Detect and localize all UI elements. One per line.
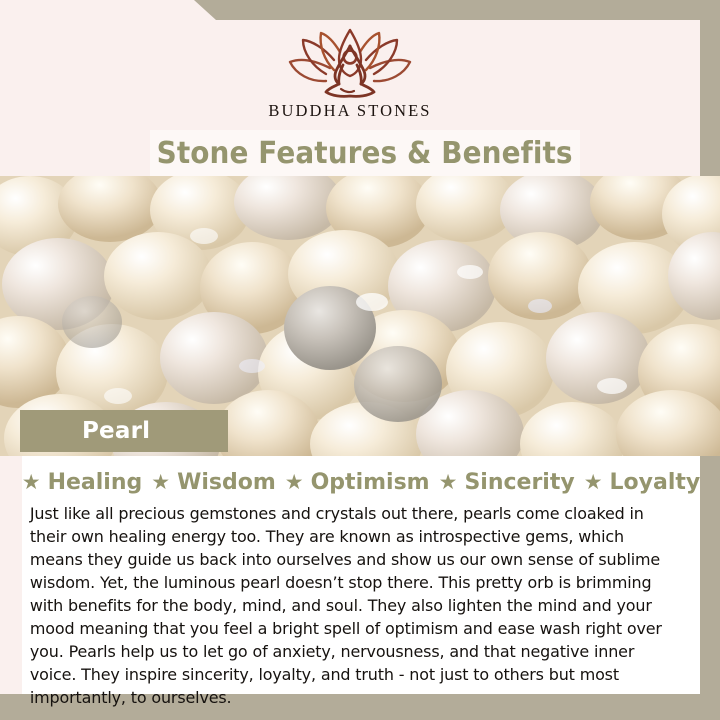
star-icon: ★: [584, 472, 603, 493]
star-icon: ★: [22, 472, 41, 493]
infographic-page: BUDDHA STONES Stone Features & Benefits: [0, 0, 720, 720]
keyword-item-optimism: ★ Optimism: [276, 470, 430, 495]
keyword-list: ★ Healing ★ Wisdom ★ Optimism ★ Sincerit…: [22, 464, 700, 500]
stone-name-bar: Pearl: [20, 410, 228, 452]
keyword-item-sincerity: ★ Sincerity: [430, 470, 575, 495]
brand-header: BUDDHA STONES: [0, 18, 700, 121]
brand-name: BUDDHA STONES: [0, 101, 700, 121]
star-icon: ★: [285, 472, 304, 493]
keyword-label: Healing: [48, 470, 143, 495]
keyword-item-wisdom: ★ Wisdom: [142, 470, 276, 495]
star-icon: ★: [151, 472, 170, 493]
lotus-meditation-icon: [284, 24, 416, 98]
star-icon: ★: [439, 472, 458, 493]
keyword-label: Loyalty: [610, 470, 701, 495]
description-paragraph: Just like all precious gemstones and cry…: [22, 500, 690, 709]
page-title: Stone Features & Benefits: [157, 136, 573, 171]
stone-name: Pearl: [20, 418, 150, 444]
keyword-label: Sincerity: [464, 470, 574, 495]
benefits-panel: ★ Healing ★ Wisdom ★ Optimism ★ Sincerit…: [22, 456, 700, 694]
keyword-item-healing: ★ Healing: [22, 470, 143, 495]
keyword-label: Optimism: [311, 470, 430, 495]
keyword-label: Wisdom: [177, 470, 276, 495]
keyword-item-loyalty: ★ Loyalty: [575, 470, 701, 495]
section-title-band: Stone Features & Benefits: [150, 130, 580, 176]
